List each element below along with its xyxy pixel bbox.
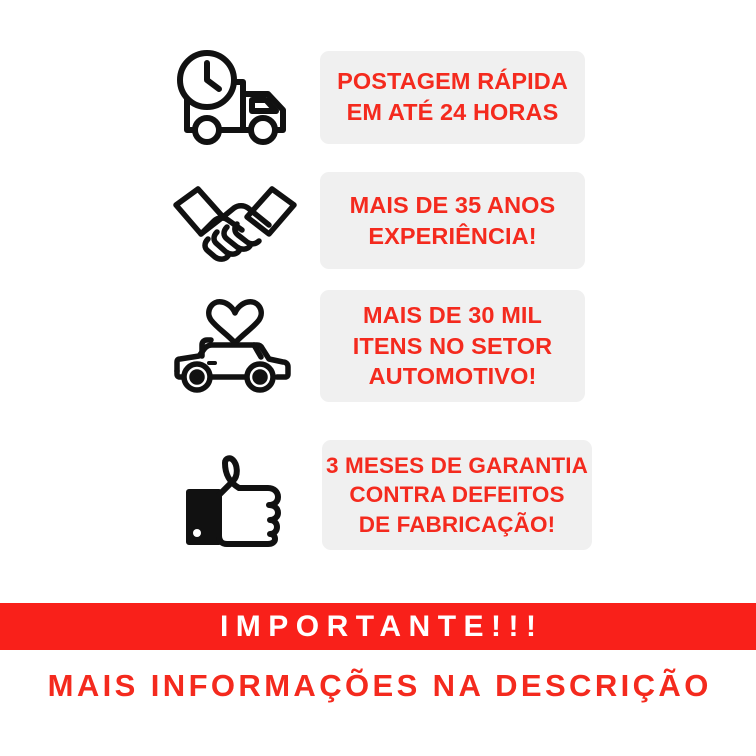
benefit-text-catalog: MAIS DE 30 MIL ITENS NO SETOR AUTOMOTIVO… <box>320 290 585 402</box>
important-banner: IMPORTANTE!!! <box>0 603 756 650</box>
footer-callout-text: MAIS INFORMAÇÕES NA DESCRIÇÃO <box>44 670 711 701</box>
important-banner-text: IMPORTANTE!!! <box>212 612 543 642</box>
benefit-line: CONTRA DEFEITOS <box>349 480 564 509</box>
benefit-text-shipping: POSTAGEM RÁPIDA EM ATÉ 24 HORAS <box>320 51 585 144</box>
benefit-text-warranty: 3 MESES DE GARANTIA CONTRA DEFEITOS DE F… <box>322 440 592 550</box>
benefit-line: EXPERIÊNCIA! <box>368 221 536 252</box>
benefit-text-experience: MAIS DE 35 ANOS EXPERIÊNCIA! <box>320 172 585 269</box>
benefits-list: POSTAGEM RÁPIDA EM ATÉ 24 HORAS <box>0 0 756 595</box>
thumbs-up-icon <box>147 442 322 548</box>
benefit-line: DE FABRICAÇÃO! <box>359 510 555 539</box>
benefit-line: ITENS NO SETOR <box>353 331 552 362</box>
benefit-line: MAIS DE 30 MIL <box>363 300 542 331</box>
benefit-line: AUTOMOTIVO! <box>369 361 537 392</box>
benefit-line: EM ATÉ 24 HORAS <box>347 97 559 128</box>
benefit-row-catalog: MAIS DE 30 MIL ITENS NO SETOR AUTOMOTIVO… <box>150 290 585 402</box>
benefit-row-warranty: 3 MESES DE GARANTIA CONTRA DEFEITOS DE F… <box>147 440 592 550</box>
benefit-row-experience: MAIS DE 35 ANOS EXPERIÊNCIA! <box>150 172 585 269</box>
benefit-line: MAIS DE 35 ANOS <box>350 190 556 221</box>
benefit-row-shipping: POSTAGEM RÁPIDA EM ATÉ 24 HORAS <box>150 48 585 146</box>
car-heart-icon <box>150 294 320 398</box>
delivery-truck-clock-icon <box>150 48 320 146</box>
benefit-line: 3 MESES DE GARANTIA <box>326 451 588 480</box>
footer-callout: MAIS INFORMAÇÕES NA DESCRIÇÃO <box>0 655 756 715</box>
handshake-icon <box>150 175 320 267</box>
benefit-line: POSTAGEM RÁPIDA <box>337 66 568 97</box>
